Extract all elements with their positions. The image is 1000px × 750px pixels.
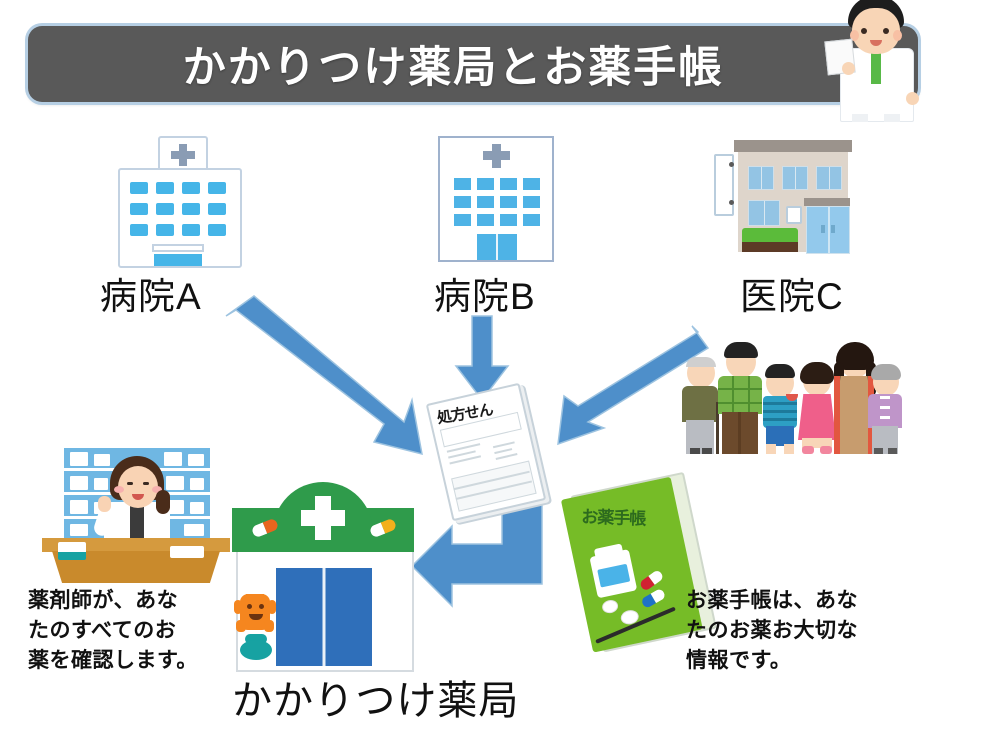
label-clinic-c: 医院C [740,266,844,320]
wall-shape [738,152,848,252]
family-member-boy [760,362,800,454]
title-banner: かかりつけ薬局とお薬手帳 [28,26,918,102]
male-pharmacist-icon [826,0,930,122]
tablet-icon [601,599,619,615]
caption-right-line-1: お薬手帳は、あな [686,586,916,616]
roof-shape [734,140,852,152]
family-group-icon [676,336,888,454]
building-body-shape [438,136,554,262]
hospital-building-icon [438,136,554,264]
family-member-father [716,342,764,454]
hospital-building-icon [114,136,262,264]
family-member-grandmother [866,364,906,454]
arrow-prescription-to-pharmacy [406,500,558,620]
clinic-building-icon [714,140,860,264]
caption-right-line-2: たのお薬お大切な [686,616,916,646]
face-shape [852,8,900,54]
page-title: かかりつけ薬局とお薬手帳 [28,33,918,95]
cross-icon [301,510,345,526]
caption-right-line-3: 情報です。 [686,646,916,676]
caption-left-line-1: 薬剤師が、あな [28,586,228,616]
label-hospital-a: 病院A [100,266,202,320]
label-pharmacy: かかりつけ薬局 [232,668,519,726]
caption-right: お薬手帳は、あな たのお薬お大切な 情報です。 [686,586,916,676]
diagram-canvas: かかりつけ薬局とお薬手帳 [0,0,1000,750]
mascot-icon [234,594,280,660]
caption-left-line-3: 薬を確認します。 [28,646,228,676]
shop-door-shape [276,568,372,666]
hedge-shape [742,228,798,242]
hand-shape [906,92,919,105]
entrance-door-shape [806,206,850,254]
hand-shape [842,62,855,75]
pharmacy-shop-icon [232,482,414,672]
caption-left-line-2: たのすべてのお [28,616,228,646]
building-body-shape [118,168,242,268]
pharmacist-figure [100,456,174,542]
arrow-hospital-a-to-prescription [200,290,430,440]
label-hospital-b: 病院B [434,266,536,320]
notebook-title: お薬手帳 [581,502,646,529]
pharmacist-at-counter-icon [42,448,230,578]
caption-left: 薬剤師が、あな たのすべてのお 薬を確認します。 [28,586,228,676]
